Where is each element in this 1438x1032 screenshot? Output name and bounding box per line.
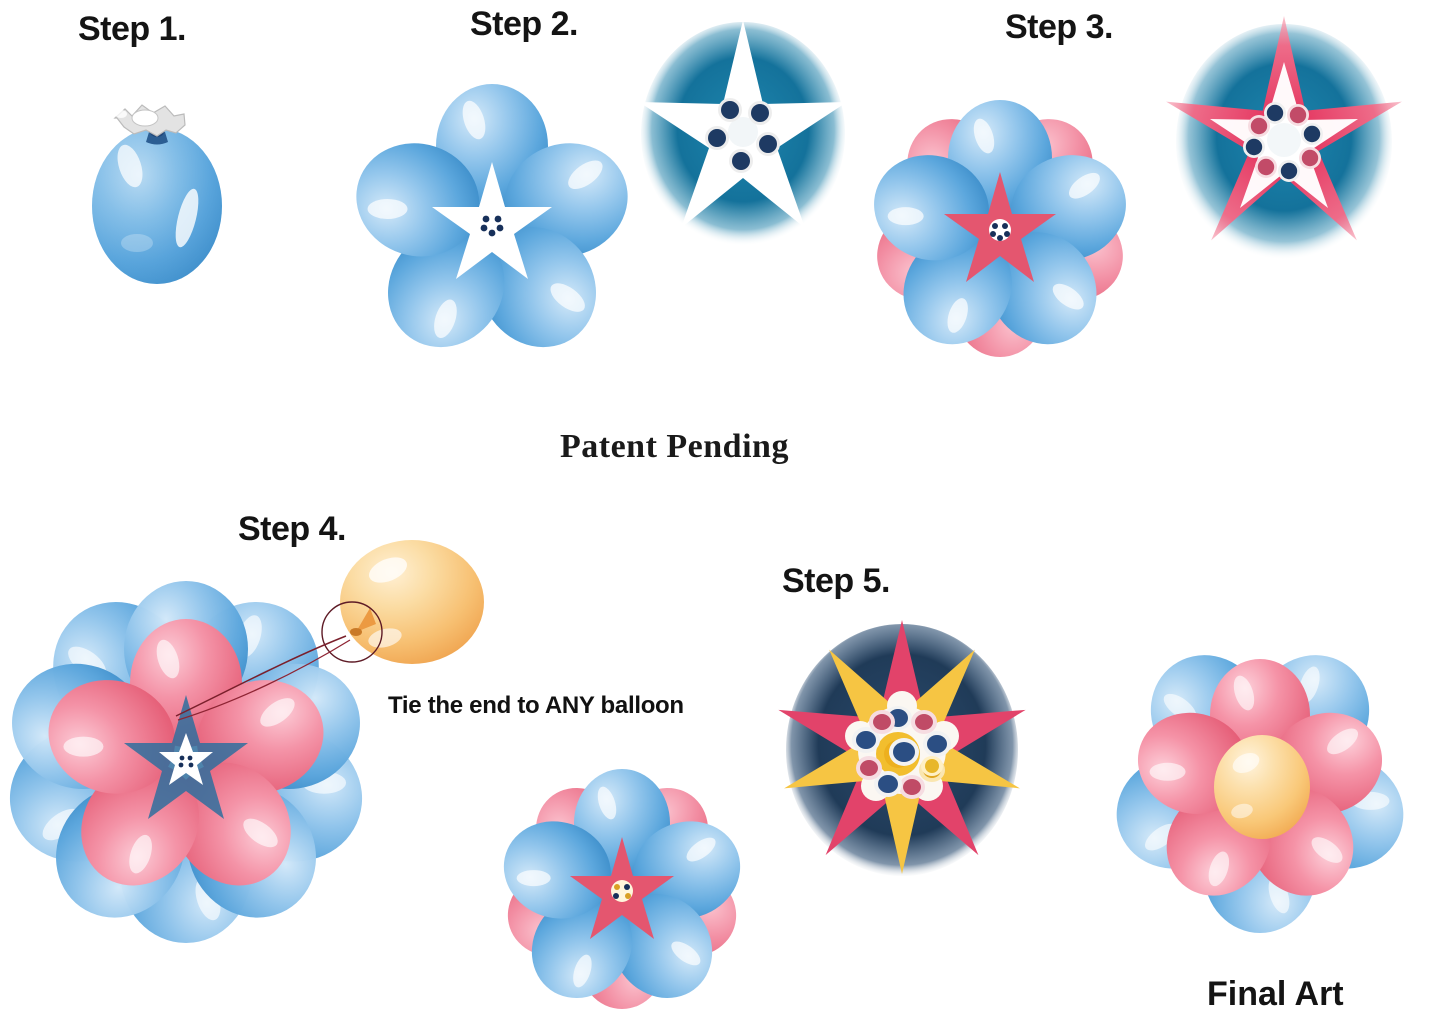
step-2-artwork [352, 92, 642, 357]
step-4-reverse-artwork [492, 765, 762, 1025]
step-1-artwork [75, 78, 275, 298]
star-clip-icon [115, 105, 185, 136]
center-yellow-balloon [1214, 735, 1310, 839]
step-3-hub-detail [1160, 14, 1410, 279]
step-4-caption: Tie the end to ANY balloon [388, 692, 684, 720]
step-2-hub-detail [636, 14, 851, 264]
step-1-label: Step 1. [78, 10, 186, 49]
yellow-balloon [340, 540, 484, 664]
instruction-sheet: Step 1. [0, 0, 1438, 1032]
step-5-label: Step 5. [782, 562, 890, 601]
step-5-hub-detail [770, 618, 1040, 888]
final-art-label: Final Art [1207, 975, 1344, 1014]
patent-pending-notice: Patent Pending [560, 428, 789, 466]
step-2-label: Step 2. [470, 5, 578, 44]
step-3-artwork [855, 92, 1155, 372]
final-art-artwork [1100, 635, 1430, 965]
step-3-label: Step 3. [1005, 8, 1113, 47]
